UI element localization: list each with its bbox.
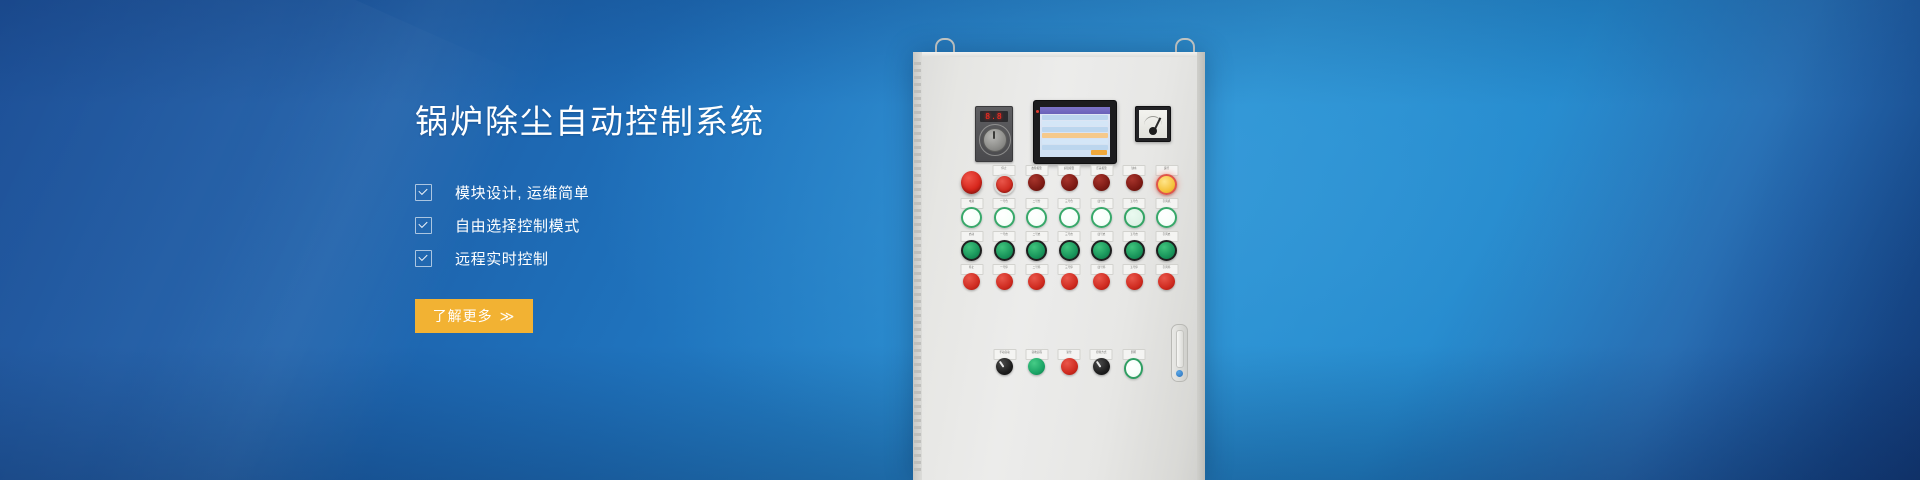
panel-button-greenbtn[interactable]	[1026, 240, 1047, 261]
hinge-tick	[914, 153, 921, 156]
emergency-and-alarm-row: 停止故障报警超温报警压差报警缺水运行	[961, 174, 1177, 195]
hinge-tick	[914, 335, 921, 338]
panel-button-whitering[interactable]	[961, 207, 982, 228]
hinge-tick	[914, 342, 921, 345]
hinge-tick	[914, 300, 921, 303]
button-cell: 五号启	[1124, 240, 1145, 261]
hmi-table-row	[1042, 115, 1108, 120]
hinge-tick	[914, 272, 921, 275]
panel-button-greenbtn[interactable]	[1156, 240, 1177, 261]
hinge-tick	[914, 195, 921, 198]
button-cell: 四号仓	[1091, 207, 1112, 228]
hinge-tick	[914, 461, 921, 464]
panel-button-redflat[interactable]	[963, 273, 980, 290]
button-cell: 一号仓	[994, 207, 1015, 228]
button-cell: 启动	[961, 240, 982, 261]
panel-button-greenbtn[interactable]	[1124, 240, 1145, 261]
gauge-hub	[1149, 127, 1157, 135]
panel-button-darkred[interactable]	[1061, 174, 1078, 191]
cabinet-right-edge	[1197, 52, 1205, 480]
cabinet-door-handle[interactable]	[1171, 324, 1188, 382]
feature-label: 自由选择控制模式	[455, 215, 580, 236]
selector-cell: 照明	[1124, 358, 1143, 379]
hinge-tick	[914, 328, 921, 331]
learn-more-button[interactable]: 了解更多 ≫	[415, 299, 533, 333]
button-cell	[961, 174, 982, 195]
hinge-tick	[914, 237, 921, 240]
hinge-tick	[914, 139, 921, 142]
hero-banner: 锅炉除尘自动控制系统 模块设计, 运维简单 自由选择控制模式 远程实时控制 了解…	[0, 0, 1920, 480]
hinge-tick	[914, 104, 921, 107]
list-item: 模块设计, 运维简单	[415, 176, 975, 209]
hinge-tick	[914, 454, 921, 457]
panel-button-estop[interactable]	[961, 171, 982, 194]
panel-button-greenring[interactable]	[1124, 207, 1145, 228]
check-box-icon	[415, 184, 432, 201]
hinge-tick	[914, 132, 921, 135]
panel-button-amber[interactable]	[1156, 174, 1177, 195]
handle-lock-icon	[1176, 370, 1183, 377]
hinge-tick	[914, 125, 921, 128]
panel-button-darkred[interactable]	[1028, 174, 1045, 191]
button-cell: 四号启	[1091, 240, 1112, 261]
check-box-icon	[415, 250, 432, 267]
panel-button-greenbtn[interactable]	[1091, 240, 1112, 261]
selector-switch-greenflat[interactable]	[1028, 358, 1045, 375]
hmi-touchscreen-panel[interactable]	[1033, 100, 1117, 164]
button-cell: 引风启	[1156, 240, 1177, 261]
cabinet-body: 8.8	[913, 52, 1205, 480]
hinge-tick	[914, 363, 921, 366]
control-cabinet-image: 8.8	[913, 52, 1205, 480]
hinge-tick	[914, 160, 921, 163]
double-chevron-right-icon: ≫	[500, 308, 516, 325]
button-cell: 压差报警	[1091, 174, 1112, 195]
button-cell: 五号仓	[1124, 207, 1145, 228]
hinge-tick	[914, 279, 921, 282]
hinge-tick	[914, 412, 921, 415]
panel-button-greenbtn[interactable]	[961, 240, 982, 261]
button-cell: 三号启	[1059, 240, 1080, 261]
button-cell: 一号停	[994, 273, 1015, 290]
hinge-tick	[914, 265, 921, 268]
hinge-tick	[914, 440, 921, 443]
hinge-tick	[914, 314, 921, 317]
button-cell: 三号停	[1059, 273, 1080, 290]
page-title: 锅炉除尘自动控制系统	[415, 105, 975, 138]
list-item: 自由选择控制模式	[415, 209, 975, 242]
panel-button-darkred[interactable]	[1093, 174, 1110, 191]
hinge-tick	[914, 244, 921, 247]
button-cell: 超温报警	[1059, 174, 1080, 195]
hinge-tick	[914, 251, 921, 254]
button-cell: 二号启	[1026, 240, 1047, 261]
button-cell: 五号停	[1124, 273, 1145, 290]
hinge-tick	[914, 349, 921, 352]
hinge-tick	[914, 90, 921, 93]
hinge-tick	[914, 447, 921, 450]
hinge-tick	[914, 307, 921, 310]
hero-copy: 锅炉除尘自动控制系统 模块设计, 运维简单 自由选择控制模式 远程实时控制 了解…	[415, 105, 975, 333]
hinge-tick	[914, 76, 921, 79]
vfd-display: 8.8	[980, 111, 1008, 122]
hinge-tick	[914, 216, 921, 219]
button-cell: 停止	[961, 273, 982, 290]
hinge-tick	[914, 111, 921, 114]
handle-slot	[1176, 330, 1184, 368]
digital-frequency-controller[interactable]: 8.8	[975, 106, 1013, 162]
button-cell: 二号仓	[1026, 207, 1047, 228]
gauge-face	[1139, 110, 1167, 138]
hinge-tick	[914, 69, 921, 72]
cabinet-hinge-strip	[913, 52, 922, 480]
button-cell: 四号停	[1091, 273, 1112, 290]
hinge-tick	[914, 419, 921, 422]
hinge-tick	[914, 181, 921, 184]
hmi-table-row	[1042, 121, 1108, 126]
hmi-table-row	[1042, 133, 1108, 138]
indicator-white-row: 电源一号仓二号仓三号仓四号仓五号仓引风机	[961, 207, 1177, 228]
button-cell: 一号启	[994, 240, 1015, 261]
hinge-tick	[914, 97, 921, 100]
vfd-knob[interactable]	[983, 128, 1007, 152]
panel-button-whitering[interactable]	[1059, 207, 1080, 228]
hinge-tick	[914, 62, 921, 65]
hinge-tick	[914, 258, 921, 261]
hinge-tick	[914, 391, 921, 394]
selector-cell: 就地远程	[1027, 358, 1046, 379]
selector-cell: 复位	[1060, 358, 1079, 379]
panel-button-darkred[interactable]	[1126, 174, 1143, 191]
stop-red-row: 停止一号停二号停三号停四号停五号停引风停	[961, 273, 1177, 290]
selector-switch-redflat[interactable]	[1061, 358, 1078, 375]
button-cell: 电源	[961, 207, 982, 228]
panel-button-redflat[interactable]	[1061, 273, 1078, 290]
hinge-tick	[914, 426, 921, 429]
panel-button-whitering[interactable]	[1026, 207, 1047, 228]
hinge-tick	[914, 405, 921, 408]
panel-button-whitering[interactable]	[994, 207, 1015, 228]
button-cell: 故障报警	[1026, 174, 1047, 195]
button-cell: 二号停	[1026, 273, 1047, 290]
hinge-tick	[914, 398, 921, 401]
panel-button-whitering[interactable]	[1091, 207, 1112, 228]
list-item: 远程实时控制	[415, 242, 975, 275]
selector-switch-whiteflat[interactable]	[1124, 358, 1143, 379]
cabinet-top-edge	[913, 52, 1205, 57]
hinge-tick	[914, 433, 921, 436]
button-cell: 缺水	[1124, 174, 1145, 195]
hinge-tick	[914, 167, 921, 170]
hinge-tick	[914, 286, 921, 289]
hinge-tick	[914, 188, 921, 191]
hinge-tick	[914, 146, 921, 149]
panel-button-redbtn[interactable]	[994, 174, 1015, 195]
hinge-tick	[914, 118, 921, 121]
hmi-action-button[interactable]	[1091, 150, 1107, 155]
vfd-value: 8.8	[985, 112, 1002, 121]
analog-ammeter-gauge	[1135, 106, 1171, 142]
hmi-table-row	[1042, 139, 1108, 144]
feature-label: 远程实时控制	[455, 248, 549, 269]
hinge-tick	[914, 293, 921, 296]
button-cell: 停止	[994, 174, 1015, 195]
button-cell: 运行	[1156, 174, 1177, 195]
hinge-tick	[914, 209, 921, 212]
panel-button-redflat[interactable]	[1126, 273, 1143, 290]
panel-button-redflat[interactable]	[1158, 273, 1175, 290]
selector-switch-row[interactable]: 手动自动就地远程复位控制方式照明	[995, 358, 1143, 379]
hinge-tick	[914, 321, 921, 324]
feature-list: 模块设计, 运维简单 自由选择控制模式 远程实时控制	[415, 176, 975, 275]
hmi-screen[interactable]	[1040, 107, 1110, 157]
selector-switch-blackknob[interactable]	[1093, 358, 1110, 375]
button-cell: 引风机	[1156, 207, 1177, 228]
hinge-tick	[914, 174, 921, 177]
selector-cell: 手动自动	[995, 358, 1014, 379]
panel-button-whitering[interactable]	[1156, 207, 1177, 228]
hinge-tick	[914, 377, 921, 380]
button-cell: 三号仓	[1059, 207, 1080, 228]
panel-button-greenbtn[interactable]	[1059, 240, 1080, 261]
hinge-tick	[914, 384, 921, 387]
check-box-icon	[415, 217, 432, 234]
learn-more-label: 了解更多	[433, 306, 493, 326]
panel-button-redflat[interactable]	[996, 273, 1013, 290]
power-led-icon	[1036, 110, 1039, 113]
hinge-tick	[914, 83, 921, 86]
hinge-tick	[914, 370, 921, 373]
feature-label: 模块设计, 运维简单	[455, 182, 589, 203]
start-green-row: 启动一号启二号启三号启四号启五号启引风启	[961, 240, 1177, 261]
button-grid[interactable]: 停止故障报警超温报警压差报警缺水运行电源一号仓二号仓三号仓四号仓五号仓引风机启动…	[961, 174, 1177, 302]
panel-button-redflat[interactable]	[1093, 273, 1110, 290]
hinge-tick	[914, 468, 921, 471]
hinge-tick	[914, 356, 921, 359]
button-cell: 引风停	[1156, 273, 1177, 290]
hinge-tick	[914, 230, 921, 233]
hinge-tick	[914, 202, 921, 205]
selector-cell: 控制方式	[1092, 358, 1111, 379]
hmi-title-bar	[1040, 107, 1110, 114]
selector-switch-blackknob[interactable]	[996, 358, 1013, 375]
hinge-tick	[914, 223, 921, 226]
hmi-table-row	[1042, 127, 1108, 132]
panel-button-redflat[interactable]	[1028, 273, 1045, 290]
panel-button-greenbtn[interactable]	[994, 240, 1015, 261]
